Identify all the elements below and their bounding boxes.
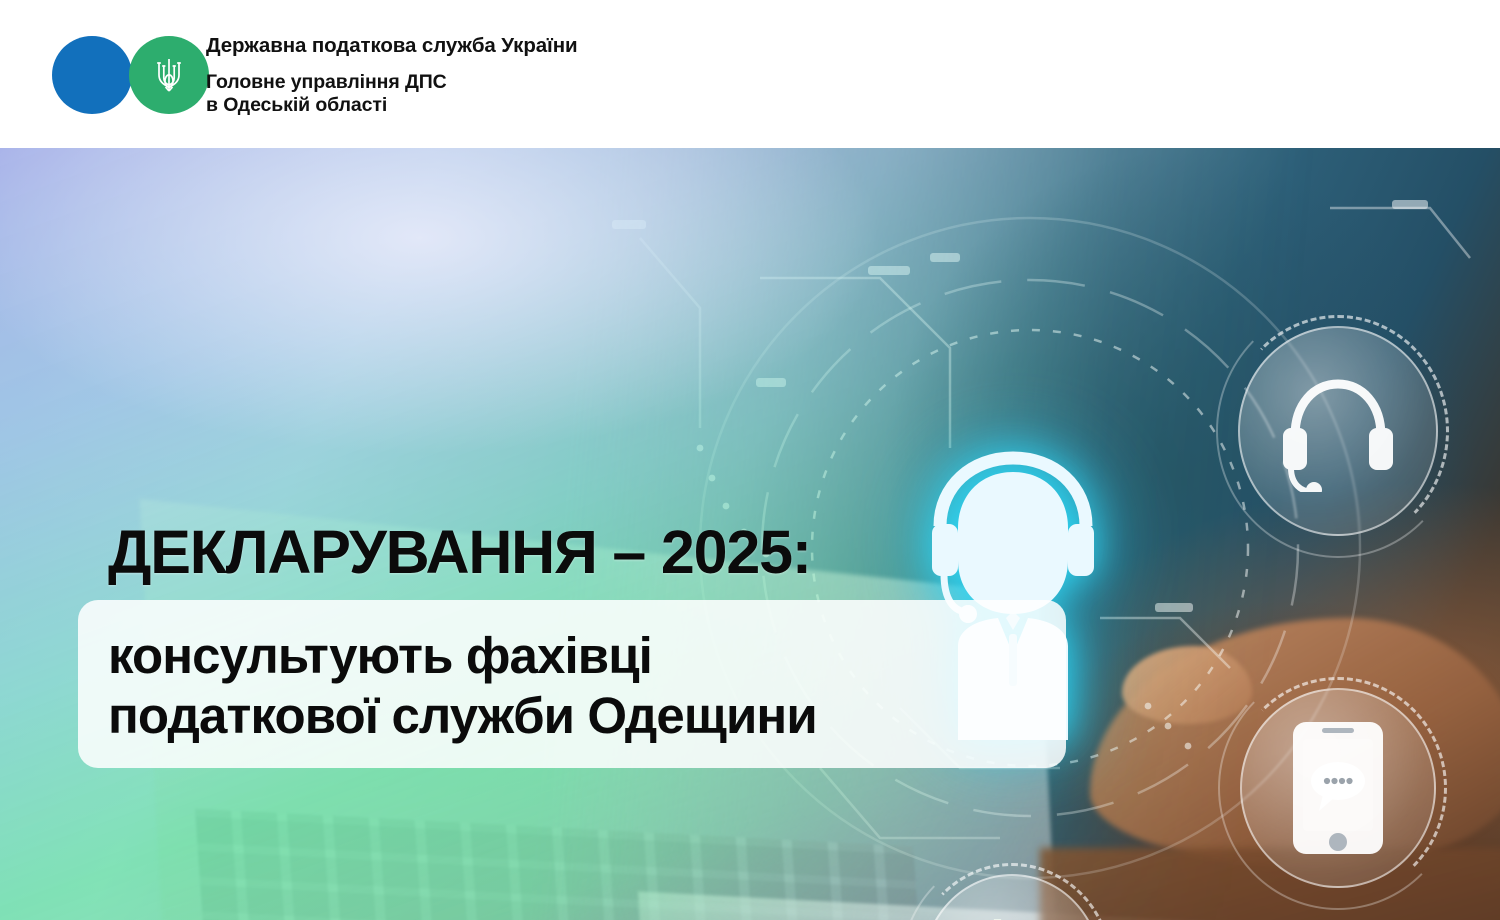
headset-icon bbox=[1277, 370, 1399, 492]
headset-badge bbox=[1238, 326, 1438, 536]
org-name-line3: в Одеській області bbox=[206, 94, 578, 118]
smartphone-chat-badge bbox=[1240, 688, 1436, 888]
chat-bubble-icon bbox=[1311, 762, 1365, 811]
hero-banner: ДЕКЛАРУВАННЯ – 2025: консультують фахівц… bbox=[0, 148, 1500, 920]
gears-badge bbox=[922, 874, 1102, 920]
dps-logo[interactable] bbox=[52, 36, 204, 114]
logo-blue-circle-icon bbox=[52, 36, 132, 114]
smartphone-chat-icon bbox=[1289, 719, 1387, 857]
org-name-line1: Державна податкова служба України bbox=[206, 34, 578, 58]
org-name-line2: Головне управління ДПС в Одеській област… bbox=[206, 71, 578, 119]
hero-headline: консультують фахівці податкової служби О… bbox=[108, 626, 1048, 745]
org-name-line2a: Головне управління ДПС bbox=[206, 71, 578, 95]
ukraine-trident-icon bbox=[154, 53, 184, 97]
hero-kicker-title: ДЕКЛАРУВАННЯ – 2025: bbox=[108, 521, 811, 584]
hero-headline-line2: податкової служби Одещини bbox=[108, 686, 1048, 746]
hero-headline-line1: консультують фахівці bbox=[108, 626, 1048, 686]
site-header: Державна податкова служба України Головн… bbox=[0, 0, 1500, 148]
logo-green-circle-icon bbox=[129, 36, 209, 114]
page-root: Державна податкова служба України Головн… bbox=[0, 0, 1500, 920]
header-org-text: Державна податкова служба України Головн… bbox=[206, 34, 578, 118]
hero-light-wash bbox=[0, 148, 980, 478]
gears-icon bbox=[950, 907, 1074, 920]
